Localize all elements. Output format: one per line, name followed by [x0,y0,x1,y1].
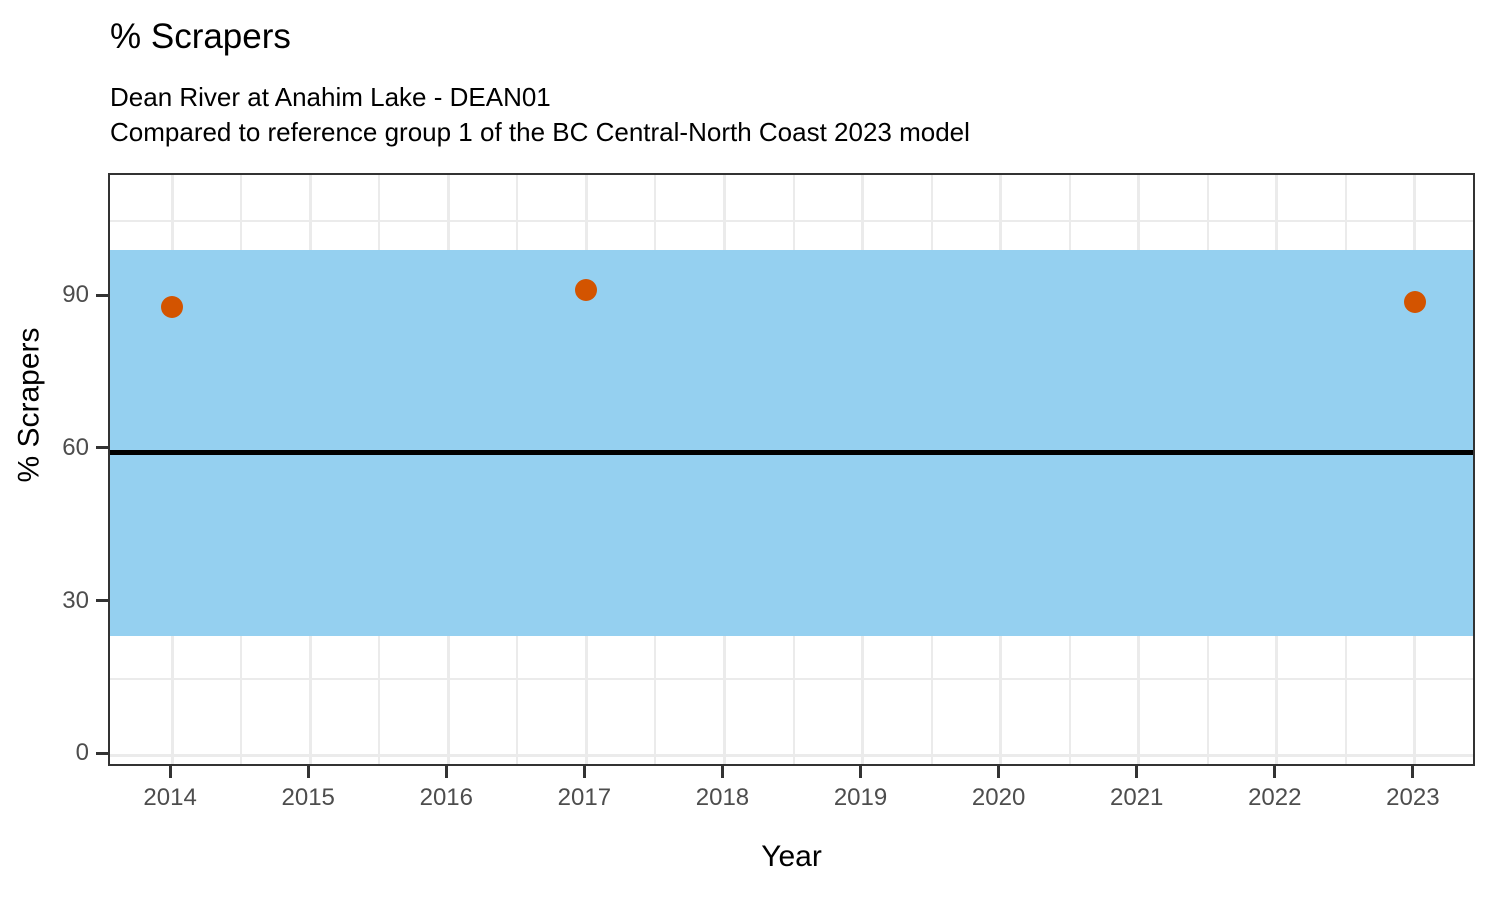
x-tick-label: 2016 [420,784,473,812]
y-tick-label: 30 [62,587,89,615]
x-tick-label: 2017 [558,784,611,812]
reference-band [110,250,1473,636]
x-tick-label: 2019 [834,784,887,812]
x-tick-label: 2020 [972,784,1025,812]
data-point[interactable] [575,279,597,301]
y-axis-title: % Scrapers [10,0,50,900]
reference-line [110,450,1473,455]
chart-subtitle: Dean River at Anahim Lake - DEAN01 Compa… [110,80,970,150]
x-tick-mark [1273,766,1276,778]
data-point[interactable] [1404,291,1426,313]
y-tick-label: 90 [62,281,89,309]
chart-subtitle-line-1: Dean River at Anahim Lake - DEAN01 [110,80,970,115]
x-tick-mark [859,766,862,778]
plot-panel [108,173,1475,766]
x-tick-mark [445,766,448,778]
y-tick-label: 0 [76,739,89,767]
page-title: % Scrapers [110,18,291,57]
y-axis-title-label: % Scrapers [13,327,47,482]
y-tick-mark [96,599,108,602]
x-tick-label: 2018 [696,784,749,812]
chart-figure: % Scrapers Dean River at Anahim Lake - D… [0,0,1500,900]
gridline-major-horizontal [110,754,1473,757]
x-tick-label: 2022 [1248,784,1301,812]
gridline-minor-horizontal [110,678,1473,680]
x-tick-label: 2021 [1110,784,1163,812]
y-tick-mark [96,446,108,449]
x-tick-mark [169,766,172,778]
x-axis-title: Year [108,840,1475,874]
x-tick-mark [1411,766,1414,778]
x-tick-label: 2015 [282,784,335,812]
x-tick-mark [307,766,310,778]
y-tick-mark [96,294,108,297]
y-tick-mark [96,752,108,755]
y-tick-label: 60 [62,434,89,462]
chart-subtitle-line-2: Compared to reference group 1 of the BC … [110,115,970,150]
x-tick-mark [583,766,586,778]
x-tick-label: 2014 [143,784,196,812]
gridline-minor-horizontal [110,220,1473,222]
x-tick-mark [997,766,1000,778]
x-tick-mark [1135,766,1138,778]
x-tick-mark [721,766,724,778]
x-tick-label: 2023 [1386,784,1439,812]
